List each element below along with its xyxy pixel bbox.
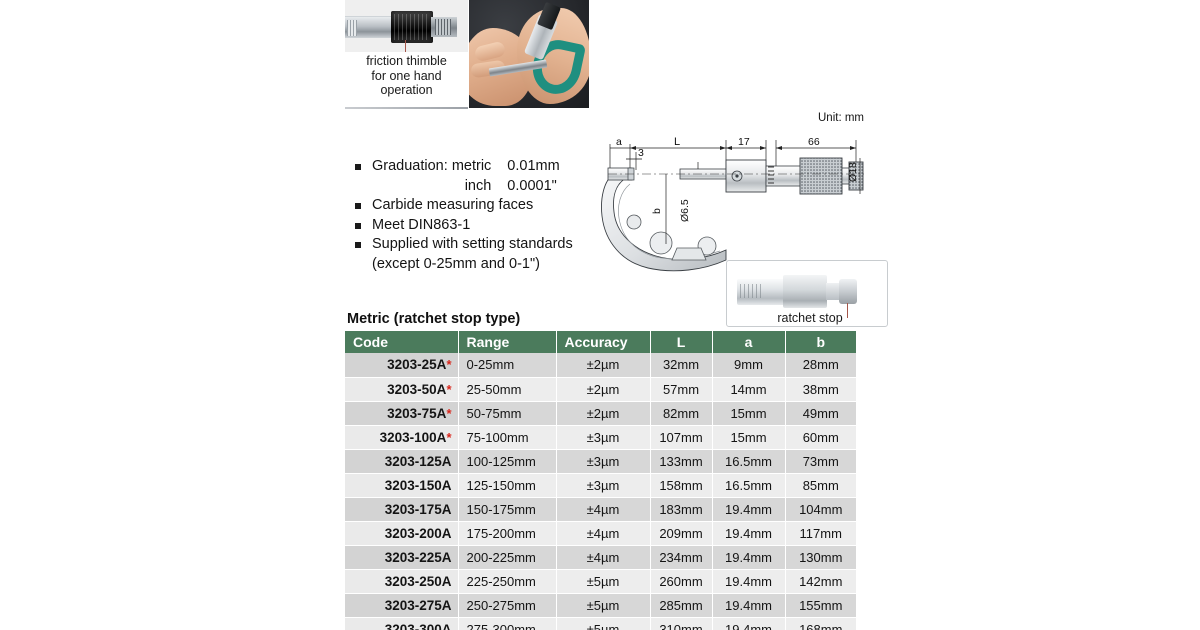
column-header-b[interactable]: b (785, 331, 856, 353)
cell-l: 158mm (650, 473, 712, 497)
specification-list: Graduation: metric 0.01mm inch 0.0001" C… (355, 157, 615, 274)
cell-range: 100-125mm (458, 449, 556, 473)
ratchet-stop-part (839, 279, 857, 304)
column-header-code[interactable]: Code (345, 331, 458, 353)
friction-thimble-photo: friction thimble for one hand operation (345, 0, 468, 108)
cell-l: 32mm (650, 353, 712, 377)
cell-l: 260mm (650, 569, 712, 593)
table-body: 3203-25A*0-25mm±2µm32mm9mm28mm3203-50A*2… (345, 353, 856, 630)
caption-line-3: operation (345, 83, 468, 98)
column-header-accuracy[interactable]: Accuracy (556, 331, 650, 353)
cell-a: 19.4mm (712, 521, 785, 545)
frame-hole (650, 232, 672, 254)
cell-l: 209mm (650, 521, 712, 545)
code-text: 3203-50A (387, 382, 446, 397)
spec-bullet-din-standard: Meet DIN863-1 (355, 216, 615, 236)
cell-b: 130mm (785, 545, 856, 569)
cell-accuracy: ±5µm (556, 593, 650, 617)
caption-line-1: friction thimble (345, 54, 468, 69)
cell-range: 0-25mm (458, 353, 556, 377)
frame-nameplate (672, 248, 706, 260)
cell-a: 15mm (712, 401, 785, 425)
column-header-a[interactable]: a (712, 331, 785, 353)
micrometer-tail (431, 17, 457, 37)
graduation-value-metric: 0.01mm (507, 157, 559, 177)
table-title: Metric (ratchet stop type) (347, 311, 520, 327)
code-text: 3203-75A (387, 406, 446, 421)
table-header-row: Code Range Accuracy L a b (345, 331, 856, 353)
code-text: 3203-250A (385, 574, 452, 589)
friction-thimble-part (391, 11, 433, 43)
frame-hole (627, 215, 641, 229)
column-header-range[interactable]: Range (458, 331, 556, 353)
cell-accuracy: ±2µm (556, 401, 650, 425)
cell-l: 133mm (650, 449, 712, 473)
cell-a: 9mm (712, 353, 785, 377)
cell-accuracy: ±3µm (556, 473, 650, 497)
cell-b: 60mm (785, 425, 856, 449)
cell-l: 310mm (650, 617, 712, 630)
bullet-square-icon (355, 203, 361, 209)
cell-accuracy: ±4µm (556, 545, 650, 569)
cell-range: 125-150mm (458, 473, 556, 497)
micrometer-in-use-photo (469, 0, 589, 108)
cell-l: 82mm (650, 401, 712, 425)
spindle (680, 169, 726, 179)
spec-text: Carbide measuring faces (372, 197, 533, 213)
table-row[interactable]: 3203-275A250-275mm±5µm285mm19.4mm155mm (345, 593, 856, 617)
product-datasheet-page: friction thimble for one hand operation … (0, 0, 1200, 630)
cell-l: 57mm (650, 377, 712, 401)
cell-accuracy: ±3µm (556, 425, 650, 449)
thimble (800, 158, 842, 194)
cell-range: 50-75mm (458, 401, 556, 425)
graduation-label-text: Graduation: (372, 158, 448, 174)
asterisk-marker: * (446, 382, 451, 397)
spec-text: Supplied with setting standards (372, 236, 573, 252)
leader-line (405, 40, 406, 52)
finger (474, 41, 507, 63)
cell-accuracy: ±3µm (556, 449, 650, 473)
cell-accuracy: ±2µm (556, 377, 650, 401)
cell-code[interactable]: 3203-200A (345, 521, 458, 545)
graduation-value-inch: 0.0001" (507, 177, 559, 197)
cell-b: 28mm (785, 353, 856, 377)
code-text: 3203-225A (385, 550, 452, 565)
cell-a: 16.5mm (712, 449, 785, 473)
spec-text: Meet DIN863-1 (372, 217, 470, 233)
cell-accuracy: ±5µm (556, 569, 650, 593)
table-row[interactable]: 3203-150A125-150mm±3µm158mm16.5mm85mm (345, 473, 856, 497)
cell-code[interactable]: 3203-50A* (345, 377, 458, 401)
cell-l: 234mm (650, 545, 712, 569)
unit-label: Unit: mm (818, 112, 864, 124)
table-row[interactable]: 3203-225A200-225mm±4µm234mm19.4mm130mm (345, 545, 856, 569)
dim-dia65-label: Ø6.5 (679, 199, 691, 222)
cell-code[interactable]: 3203-75A* (345, 401, 458, 425)
ratchet-stop-caption: ratchet stop (755, 311, 865, 325)
cell-l: 285mm (650, 593, 712, 617)
caption-divider (345, 107, 468, 109)
graduation-system-inch: inch (372, 177, 507, 197)
dim-17-label: 17 (738, 136, 750, 148)
metric-ratchet-stop-table: Code Range Accuracy L a b 3203-25A*0-25m… (345, 331, 856, 630)
table-row[interactable]: 3203-300A275-300mm±5µm310mm19.4mm168mm (345, 617, 856, 630)
cell-code[interactable]: 3203-175A (345, 497, 458, 521)
cell-b: 117mm (785, 521, 856, 545)
dim-66-label: 66 (808, 136, 820, 148)
table-header: Code Range Accuracy L a b (345, 331, 856, 353)
cell-accuracy: ±2µm (556, 353, 650, 377)
cell-range: 275-300mm (458, 617, 556, 630)
cell-code[interactable]: 3203-300A (345, 617, 458, 630)
cell-a: 14mm (712, 377, 785, 401)
micrometer-sleeve (737, 279, 785, 305)
cell-a: 19.4mm (712, 617, 785, 630)
table-row[interactable]: 3203-200A175-200mm±4µm209mm19.4mm117mm (345, 521, 856, 545)
cell-range: 150-175mm (458, 497, 556, 521)
asterisk-marker: * (446, 430, 451, 445)
micrometer-sleeve (345, 16, 397, 38)
spec-bullet-carbide-faces: Carbide measuring faces (355, 196, 615, 216)
spec-bullet-graduation: Graduation: metric 0.01mm inch 0.0001" (355, 157, 615, 196)
cell-a: 19.4mm (712, 497, 785, 521)
code-text: 3203-150A (385, 478, 452, 493)
cell-b: 155mm (785, 593, 856, 617)
dim-3-label: 3 (638, 147, 644, 159)
cell-a: 19.4mm (712, 545, 785, 569)
code-text: 3203-175A (385, 502, 452, 517)
table-row[interactable]: 3203-250A225-250mm±5µm260mm19.4mm142mm (345, 569, 856, 593)
cell-b: 142mm (785, 569, 856, 593)
asterisk-marker: * (446, 406, 451, 421)
micrometer-thimble-image (345, 0, 468, 52)
cell-accuracy: ±5µm (556, 617, 650, 630)
cell-range: 225-250mm (458, 569, 556, 593)
table-row[interactable]: 3203-25A*0-25mm±2µm32mm9mm28mm (345, 353, 856, 377)
code-text: 3203-275A (385, 598, 452, 613)
table-row[interactable]: 3203-100A*75-100mm±3µm107mm15mm60mm (345, 425, 856, 449)
bullet-square-icon (355, 223, 361, 229)
code-text: 3203-125A (385, 454, 452, 469)
cell-b: 38mm (785, 377, 856, 401)
ratchet-neck (826, 283, 840, 300)
graduation-label: Graduation: metric (372, 157, 507, 177)
cell-a: 16.5mm (712, 473, 785, 497)
micrometer-thimble (783, 275, 827, 308)
cell-b: 168mm (785, 617, 856, 630)
table-row[interactable]: 3203-75A*50-75mm±2µm82mm15mm49mm (345, 401, 856, 425)
cell-b: 104mm (785, 497, 856, 521)
cell-range: 25-50mm (458, 377, 556, 401)
asterisk-marker: * (446, 357, 451, 372)
graduation-row: inch 0.0001" (372, 177, 560, 197)
cell-code[interactable]: 3203-250A (345, 569, 458, 593)
code-text: 3203-25A (387, 357, 446, 372)
cell-a: 15mm (712, 425, 785, 449)
cell-b: 85mm (785, 473, 856, 497)
cell-range: 75-100mm (458, 425, 556, 449)
column-header-l[interactable]: L (650, 331, 712, 353)
cell-code[interactable]: 3203-25A* (345, 353, 458, 377)
cell-l: 107mm (650, 425, 712, 449)
cell-l: 183mm (650, 497, 712, 521)
code-text: 3203-200A (385, 526, 452, 541)
cell-a: 19.4mm (712, 569, 785, 593)
graduation-row: Graduation: metric 0.01mm (372, 157, 560, 177)
graduation-system-metric: metric (452, 158, 491, 174)
spec-text-continuation: (except 0-25mm and 0-1") (355, 255, 615, 275)
cell-code[interactable]: 3203-275A (345, 593, 458, 617)
cell-accuracy: ±4µm (556, 521, 650, 545)
cell-range: 175-200mm (458, 521, 556, 545)
spec-bullet-setting-standards: Supplied with setting standards (355, 235, 615, 255)
dim-dia18-label: Ø18 (847, 162, 859, 182)
cell-code[interactable]: 3203-225A (345, 545, 458, 569)
cell-b: 73mm (785, 449, 856, 473)
cell-a: 19.4mm (712, 593, 785, 617)
cell-range: 250-275mm (458, 593, 556, 617)
table-row[interactable]: 3203-50A*25-50mm±2µm57mm14mm38mm (345, 377, 856, 401)
caption-line-2: for one hand (345, 69, 468, 84)
cell-range: 200-225mm (458, 545, 556, 569)
code-text: 3203-300A (385, 622, 452, 630)
cell-code[interactable]: 3203-100A* (345, 425, 458, 449)
table-row[interactable]: 3203-125A100-125mm±3µm133mm16.5mm73mm (345, 449, 856, 473)
bullet-square-icon (355, 242, 361, 248)
cell-b: 49mm (785, 401, 856, 425)
cell-code[interactable]: 3203-150A (345, 473, 458, 497)
graduation-table: Graduation: metric 0.01mm inch 0.0001" (372, 157, 560, 196)
cell-code[interactable]: 3203-125A (345, 449, 458, 473)
bullet-square-icon (355, 164, 361, 170)
friction-thimble-caption: friction thimble for one hand operation (345, 54, 468, 98)
table-row[interactable]: 3203-175A150-175mm±4µm183mm19.4mm104mm (345, 497, 856, 521)
ratchet-stop-inset: ratchet stop (726, 260, 888, 327)
dim-b-label: b (651, 208, 663, 214)
dim-L-label: L (674, 136, 680, 148)
dim-a-label: a (616, 136, 622, 148)
cell-accuracy: ±4µm (556, 497, 650, 521)
code-text: 3203-100A (380, 430, 447, 445)
